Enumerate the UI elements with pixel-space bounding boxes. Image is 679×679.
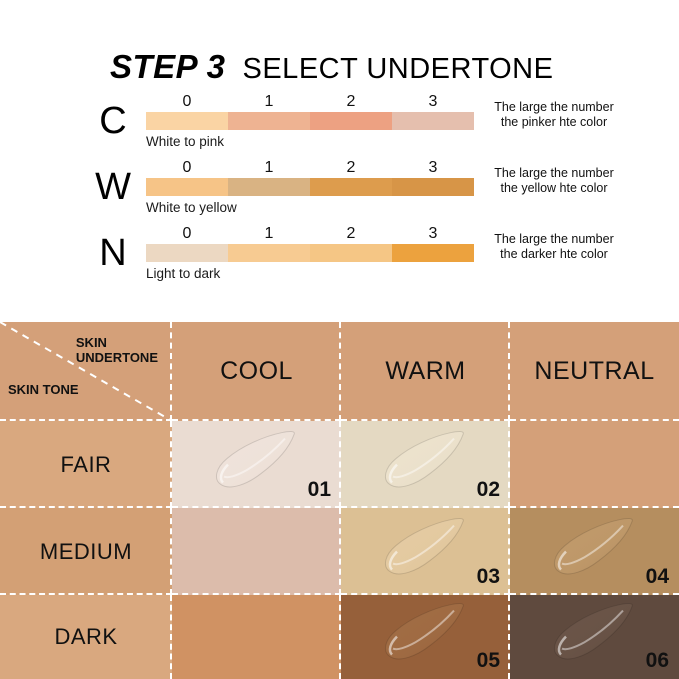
title-subtitle: SELECT UNDERTONE [243,53,554,86]
scale-tick: 2 [310,224,392,244]
row-label: MEDIUM [40,539,132,565]
scale-tick: 2 [310,92,392,112]
foundation-swatch-icon [366,514,486,586]
scale-tick: 1 [228,158,310,178]
scale-swatch [146,112,228,130]
shade-cell-medium-cool[interactable] [172,508,341,595]
matrix-header-cool: COOL [172,322,341,421]
scale-note-c: The large the number the pinker hte colo… [484,100,624,131]
scale-swatch [392,178,474,196]
corner-skintone-label: SKIN TONE [8,382,79,397]
scale-swatch [392,244,474,262]
shade-cell-fair-warm[interactable]: 02 [341,421,510,508]
scale-tick: 3 [392,158,474,178]
shade-matrix: SKIN UNDERTONE SKIN TONE COOL WARM NEUTR… [0,322,679,679]
scale-tick: 1 [228,224,310,244]
scale-swatch [310,112,392,130]
shade-cell-medium-warm[interactable]: 03 [341,508,510,595]
scale-caption-n: Light to dark [146,266,220,281]
scale-swatch [310,244,392,262]
scale-bar-wrap-w: 0 1 2 3 [146,158,474,196]
scale-bar-wrap-n: 0 1 2 3 [146,224,474,262]
scale-ticks-c: 0 1 2 3 [146,92,474,112]
shade-number: 05 [477,649,500,673]
scale-tick: 3 [392,92,474,112]
scale-note-n: The large the number the darker hte colo… [484,232,624,263]
shade-number: 01 [308,478,331,502]
shade-cell-dark-warm[interactable]: 05 [341,595,510,679]
matrix-header-neutral: NEUTRAL [510,322,679,421]
scale-ticks-n: 0 1 2 3 [146,224,474,244]
scale-tick: 1 [228,92,310,112]
scale-bar-n [146,244,474,262]
scale-tick: 2 [310,158,392,178]
scale-tick: 0 [146,158,228,178]
foundation-swatch-icon [535,514,655,586]
undertone-scales: C 0 1 2 3 White to pink The large the nu… [0,92,679,290]
scale-swatch [228,178,310,196]
scale-letter-n: N [88,234,138,272]
scale-bar-c [146,112,474,130]
foundation-swatch-icon [197,427,317,499]
corner-undertone-line2: UNDERTONE [76,351,158,366]
header-label: NEUTRAL [534,357,654,386]
row-label: FAIR [61,452,112,478]
scale-letter-c: C [88,102,138,140]
title-step: STEP 3 [110,48,226,86]
row-label-cell: FAIR [0,421,172,508]
shade-cell-dark-cool[interactable] [172,595,341,679]
matrix-corner-cell: SKIN UNDERTONE SKIN TONE [0,322,172,421]
scale-swatch [228,112,310,130]
scale-tick: 3 [392,224,474,244]
shade-cell-dark-neutral[interactable]: 06 [510,595,679,679]
scale-row-cool: C 0 1 2 3 White to pink The large the nu… [0,92,679,158]
corner-undertone-label: SKIN UNDERTONE [76,336,158,366]
foundation-swatch-icon [535,600,655,672]
scale-tick: 0 [146,224,228,244]
shade-number: 02 [477,478,500,502]
shade-number: 03 [477,565,500,589]
scale-ticks-w: 0 1 2 3 [146,158,474,178]
scale-bar-wrap-c: 0 1 2 3 [146,92,474,130]
matrix-header-row: SKIN UNDERTONE SKIN TONE COOL WARM NEUTR… [0,322,679,421]
scale-swatch [228,244,310,262]
row-label-cell: DARK [0,595,172,679]
header-label: WARM [385,357,465,386]
infographic-root: STEP 3 SELECT UNDERTONE C 0 1 2 3 [0,0,679,679]
scale-bar-w [146,178,474,196]
corner-undertone-line1: SKIN [76,336,158,351]
shade-cell-medium-neutral[interactable]: 04 [510,508,679,595]
row-label-cell: MEDIUM [0,508,172,595]
matrix-row-fair: FAIR 01 02 [0,421,679,508]
matrix-row-medium: MEDIUM 03 04 [0,508,679,595]
matrix-header-warm: WARM [341,322,510,421]
matrix-row-dark: DARK 05 06 [0,595,679,679]
scale-caption-c: White to pink [146,134,224,149]
scale-swatch [310,178,392,196]
shade-number: 06 [646,649,669,673]
foundation-swatch-icon [366,427,486,499]
scale-caption-w: White to yellow [146,200,237,215]
scale-swatch [146,178,228,196]
header-label: COOL [220,357,293,386]
foundation-swatch-icon [366,600,486,672]
scale-swatch [392,112,474,130]
scale-swatch [146,244,228,262]
scale-row-warm: W 0 1 2 3 White to yellow The large the … [0,158,679,224]
scale-letter-w: W [88,168,138,206]
row-label: DARK [54,624,117,650]
shade-number: 04 [646,565,669,589]
shade-cell-fair-neutral[interactable] [510,421,679,508]
scale-row-neutral: N 0 1 2 3 Light to dark The large the nu… [0,224,679,290]
scale-note-w: The large the number the yellow hte colo… [484,166,624,197]
scale-tick: 0 [146,92,228,112]
page-title: STEP 3 SELECT UNDERTONE [110,48,553,86]
shade-cell-fair-cool[interactable]: 01 [172,421,341,508]
